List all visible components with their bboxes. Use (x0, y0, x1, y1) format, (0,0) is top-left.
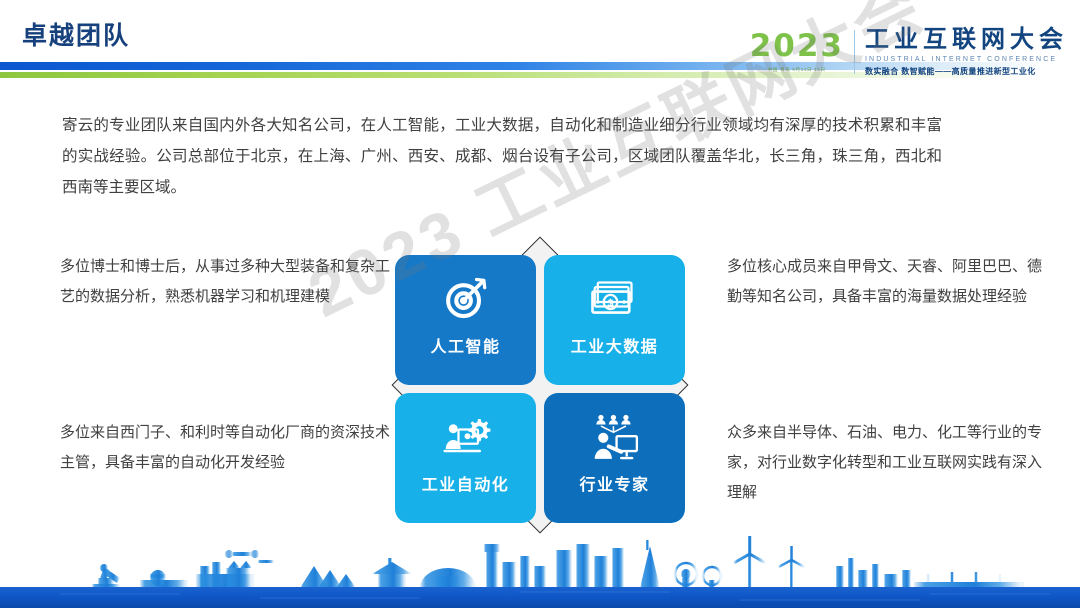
conference-logo-name-cn: 工业互联网大会 (865, 27, 1068, 52)
conference-logo-year: 2023 (750, 31, 844, 62)
note-top-right: 多位核心成员来自甲骨文、天睿、阿里巴巴、德勤等知名公司，具备丰富的海量数据处理经… (727, 252, 1045, 312)
target-icon (437, 273, 495, 325)
tile-industry-expert[interactable]: 行业专家 (544, 393, 685, 523)
conference-logo: 2023 中国·青岛 9月14日-15日 工业互联网大会 INDUSTRIAL … (750, 24, 1068, 80)
capability-tile-grid: 人工智能 $ 工业大 (395, 255, 685, 523)
tile-label: 工业大数据 (571, 333, 659, 357)
slide-header: 卓越团队 2023 中国·青岛 9月14日-15日 工业互联网大会 INDUST… (0, 0, 1080, 84)
worker-gear-icon (437, 411, 495, 463)
conference-logo-slogan: 数实融合 数智赋能——高质量推进新型工业化 (865, 66, 1068, 77)
tile-label: 工业自动化 (422, 471, 510, 495)
tile-artificial-intelligence[interactable]: 人工智能 (395, 255, 536, 385)
tile-label: 行业专家 (579, 471, 649, 495)
conference-logo-year-block: 2023 中国·青岛 9月14日-15日 (750, 31, 854, 73)
tile-industrial-automation[interactable]: 工业自动化 (395, 393, 536, 523)
presenter-icon (586, 411, 644, 463)
banknotes-icon: $ (586, 273, 644, 325)
cityscape-illustration (0, 530, 1080, 608)
tile-label: 人工智能 (430, 333, 500, 357)
intro-paragraph: 寄云的专业团队来自国内外各大知名公司，在人工智能，工业大数据，自动化和制造业细分… (62, 110, 942, 203)
note-bottom-right: 众多来自半导体、石油、电力、化工等行业的专家，对行业数字化转型和工业互联网实践有… (727, 418, 1045, 508)
slide-canvas: 卓越团队 2023 中国·青岛 9月14日-15日 工业互联网大会 INDUST… (0, 0, 1080, 608)
page-title: 卓越团队 (22, 16, 130, 52)
tile-industrial-big-data[interactable]: $ 工业大数据 (544, 255, 685, 385)
conference-logo-year-subtitle: 中国·青岛 9月14日-15日 (768, 66, 826, 73)
capability-diagram: 人工智能 $ 工业大 (390, 216, 690, 554)
note-bottom-left: 多位来自西门子、和利时等自动化厂商的资深技术主管，具备丰富的自动化开发经验 (60, 418, 390, 478)
conference-logo-name-en: INDUSTRIAL INTERNET CONFERENCE (865, 56, 1068, 63)
svg-text:$: $ (607, 298, 614, 309)
bottom-cityscape-band (0, 530, 1080, 608)
note-top-left: 多位博士和博士后，从事过多种大型装备和复杂工艺的数据分析，熟悉机器学习和机理建模 (60, 252, 390, 312)
conference-logo-name-block: 工业互联网大会 INDUSTRIAL INTERNET CONFERENCE 数… (855, 27, 1068, 76)
